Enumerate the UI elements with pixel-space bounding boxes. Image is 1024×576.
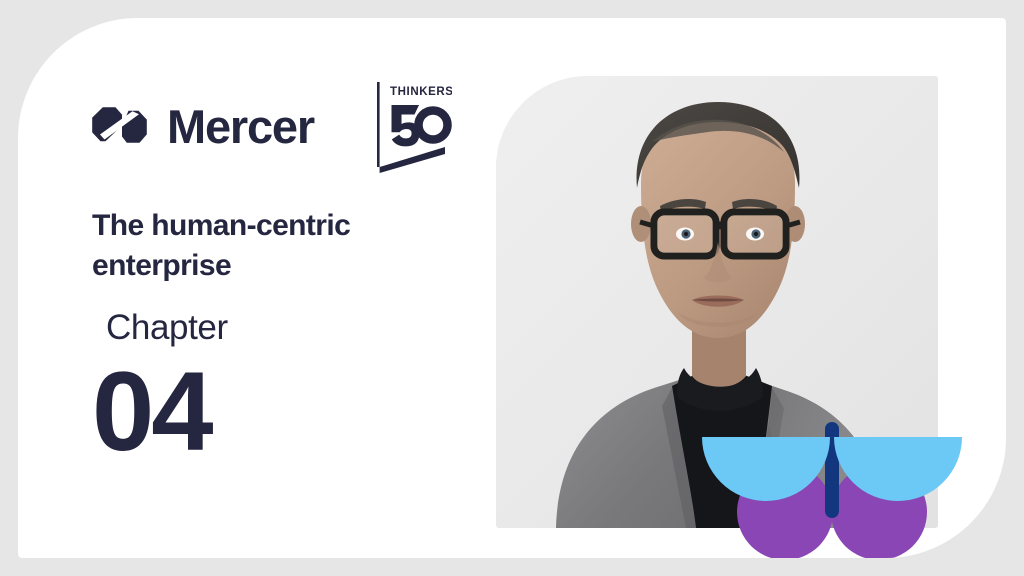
page-title: The human-centric enterprise — [92, 206, 472, 285]
chapter-number: 04 — [92, 356, 211, 468]
mercer-logo: Mercer — [91, 103, 314, 150]
chapter-label: Chapter — [106, 310, 228, 345]
mercer-wordmark: Mercer — [167, 103, 314, 150]
brand-logo-row: Mercer THINKERS — [91, 76, 452, 176]
thinkers50-logo: THINKERS — [366, 76, 452, 176]
slide-root: Mercer THINKERS The human-centric en — [0, 0, 1024, 576]
portrait-photo — [496, 76, 938, 528]
content-card: Mercer THINKERS The human-centric en — [18, 18, 1006, 558]
svg-text:THINKERS: THINKERS — [390, 86, 452, 98]
mercer-infinity-mark-icon — [91, 105, 153, 147]
